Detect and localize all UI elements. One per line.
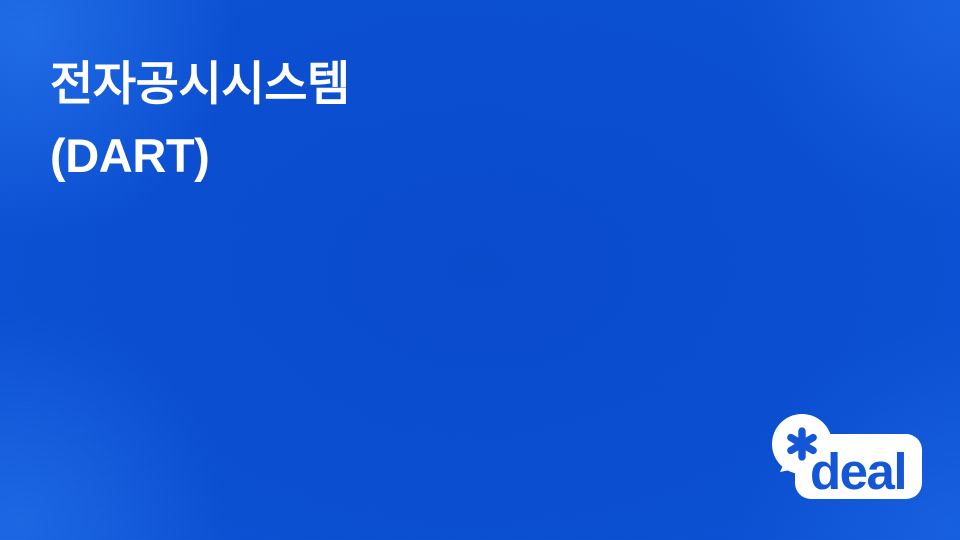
- background-glow-bottom-left: [0, 310, 230, 540]
- title-line-2: (DART): [50, 120, 810, 192]
- logo-wordmark: deal: [810, 443, 906, 500]
- deal-logo: deal: [770, 410, 930, 505]
- title-line-1: 전자공시시스템: [50, 48, 810, 120]
- slide-canvas: 전자공시시스템 (DART) deal: [0, 0, 960, 540]
- page-title: 전자공시시스템 (DART): [50, 48, 810, 192]
